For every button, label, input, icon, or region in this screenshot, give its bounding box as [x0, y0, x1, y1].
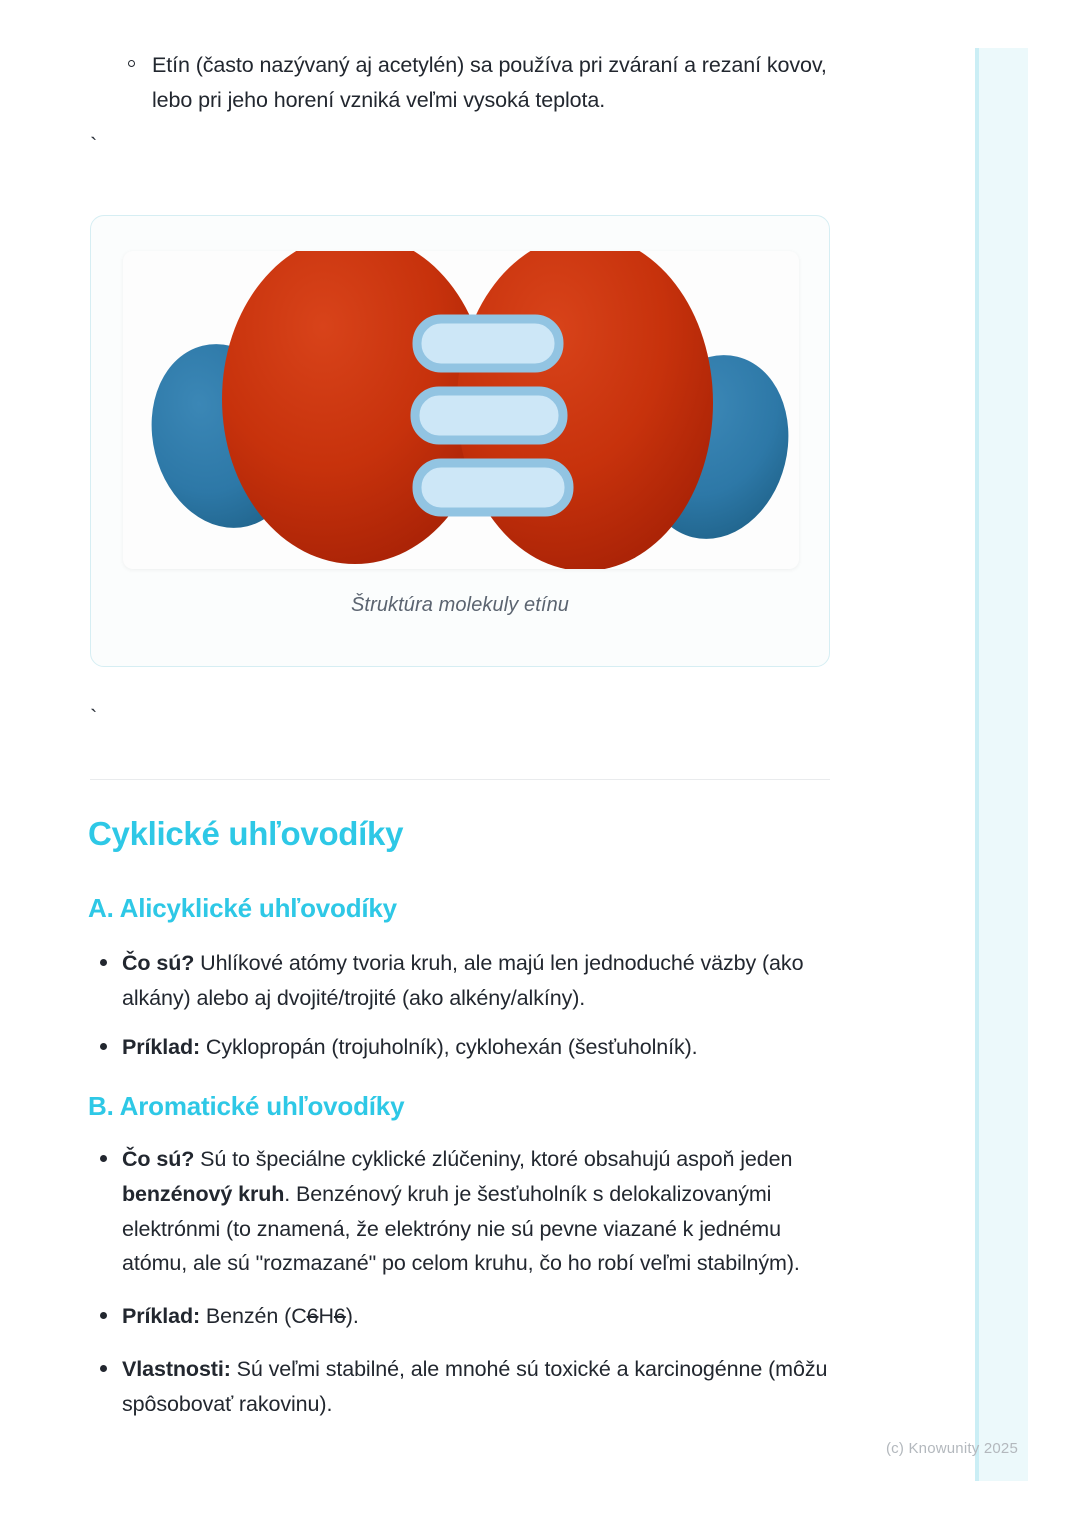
list-item-text: Etín (často nazývaný aj acetylén) sa pou…: [152, 53, 827, 112]
page-title: Cyklické uhľovodíky: [88, 815, 403, 853]
heading-section-b: B. Aromatické uhľovodíky: [88, 1091, 404, 1122]
watermark: (c) Knowunity 2025: [886, 1440, 1018, 1457]
bullet-dot-icon: [100, 1312, 107, 1319]
figure-caption: Štruktúra molekuly etínu: [91, 594, 829, 617]
list-item: Príklad: Benzén (C6H6).: [122, 1299, 832, 1334]
bullet-dot-icon: [100, 1365, 107, 1372]
list-item-text: Čo sú? Uhlíkové atómy tvoria kruh, ale m…: [122, 946, 832, 1016]
formula-part-3: ).: [346, 1304, 359, 1328]
list-item-body: Cyklopropán (trojuholník), cyklohexán (š…: [200, 1035, 698, 1059]
formula-subscript-1: 6: [307, 1304, 319, 1328]
list-item-label: Čo sú?: [122, 1147, 194, 1171]
formula-part-1: Benzén (C: [200, 1304, 307, 1328]
bond-lozenge-middle: [415, 391, 563, 440]
formula-part-2: H: [318, 1304, 333, 1328]
bullet-dot-icon: [100, 1043, 107, 1050]
right-side-band: [975, 48, 1028, 1481]
bullet-dot-icon: [100, 959, 107, 966]
list-item-body-1: Sú to špeciálne cyklické zlúčeniny, ktor…: [194, 1147, 792, 1171]
bond-lozenge-group: [415, 319, 569, 512]
list-item: Čo sú? Sú to špeciálne cyklické zlúčenin…: [122, 1142, 832, 1281]
stray-backtick-2: `: [90, 705, 97, 731]
list-item-text: Vlastnosti: Sú veľmi stabilné, ale mnohé…: [122, 1352, 832, 1422]
list-item-text: Príklad: Benzén (C6H6).: [122, 1299, 832, 1334]
list-item-label: Príklad:: [122, 1304, 200, 1328]
list-item-emphasis: benzénový kruh: [122, 1182, 284, 1206]
section-divider: [90, 779, 830, 780]
figure-card: Štruktúra molekuly etínu: [90, 215, 830, 667]
formula-subscript-2: 6: [334, 1304, 346, 1328]
heading-section-a: A. Alicyklické uhľovodíky: [88, 893, 397, 924]
list-item: Vlastnosti: Sú veľmi stabilné, ale mnohé…: [122, 1352, 832, 1422]
stray-backtick-1: `: [90, 133, 97, 159]
molecule-illustration: [123, 251, 799, 569]
list-item-label: Čo sú?: [122, 951, 194, 975]
bond-lozenge-bottom: [417, 463, 569, 512]
list-item-label: Vlastnosti:: [122, 1357, 231, 1381]
list-item-label: Príklad:: [122, 1035, 200, 1059]
document-page: Etín (často nazývaný aj acetylén) sa pou…: [0, 0, 1080, 1528]
ethyne-orbital-svg: [123, 251, 799, 569]
list-item: Príklad: Cyklopropán (trojuholník), cykl…: [122, 1030, 832, 1065]
section-b-bullets: Čo sú? Sú to špeciálne cyklické zlúčenin…: [122, 1142, 832, 1436]
bullet-circle-icon: [128, 60, 135, 67]
list-item-text: Príklad: Cyklopropán (trojuholník), cykl…: [122, 1030, 832, 1065]
bullet-dot-icon: [100, 1155, 107, 1162]
list-item: Etín (často nazývaný aj acetylén) sa pou…: [152, 48, 832, 118]
bond-lozenge-top: [417, 319, 559, 368]
list-item-body: Uhlíkové atómy tvoria kruh, ale majú len…: [122, 951, 803, 1010]
section-a-bullets: Čo sú? Uhlíkové atómy tvoria kruh, ale m…: [122, 946, 832, 1078]
list-item-text: Čo sú? Sú to špeciálne cyklické zlúčenin…: [122, 1142, 832, 1281]
list-item: Čo sú? Uhlíkové atómy tvoria kruh, ale m…: [122, 946, 832, 1016]
